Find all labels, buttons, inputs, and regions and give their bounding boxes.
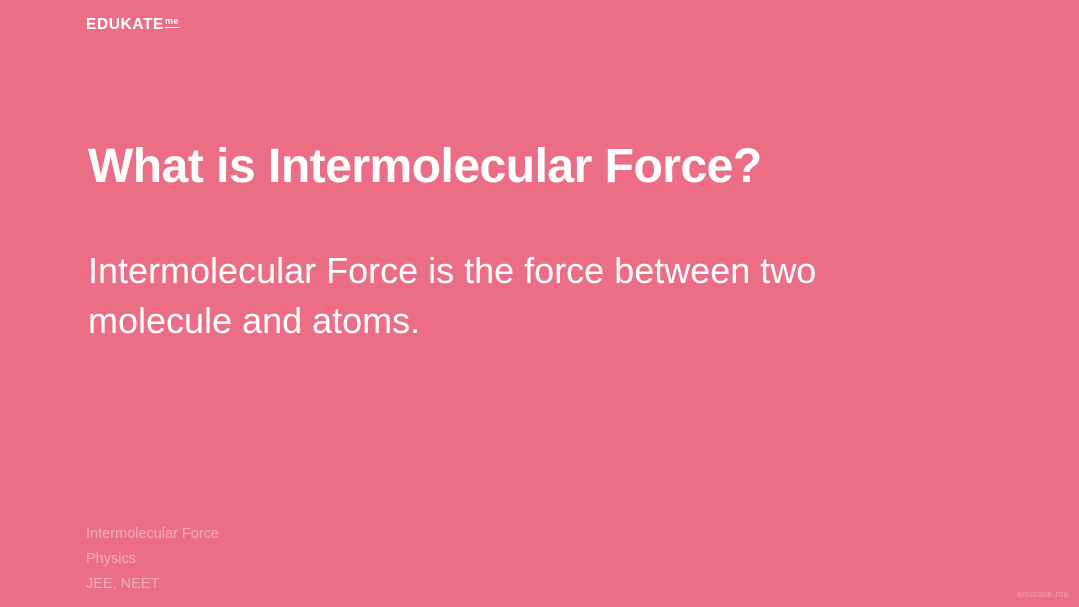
slide-title: What is Intermolecular Force? [88, 136, 988, 198]
logo-superscript: me [165, 16, 179, 28]
edukate-logo[interactable]: EDUKATE me [86, 16, 179, 34]
slide-canvas: EDUKATE me What is Intermolecular Force?… [0, 0, 1079, 607]
slide-body-text: Intermolecular Force is the force betwee… [88, 246, 968, 346]
footer-subject: Physics [86, 547, 219, 572]
logo-wordmark: EDUKATE [86, 16, 164, 34]
footer-topic: Intermolecular Force [86, 522, 219, 547]
corner-watermark: edukate.me [1017, 589, 1069, 599]
slide-footer: Intermolecular Force Physics JEE, NEET [86, 522, 219, 597]
footer-exams: JEE, NEET [86, 572, 219, 597]
